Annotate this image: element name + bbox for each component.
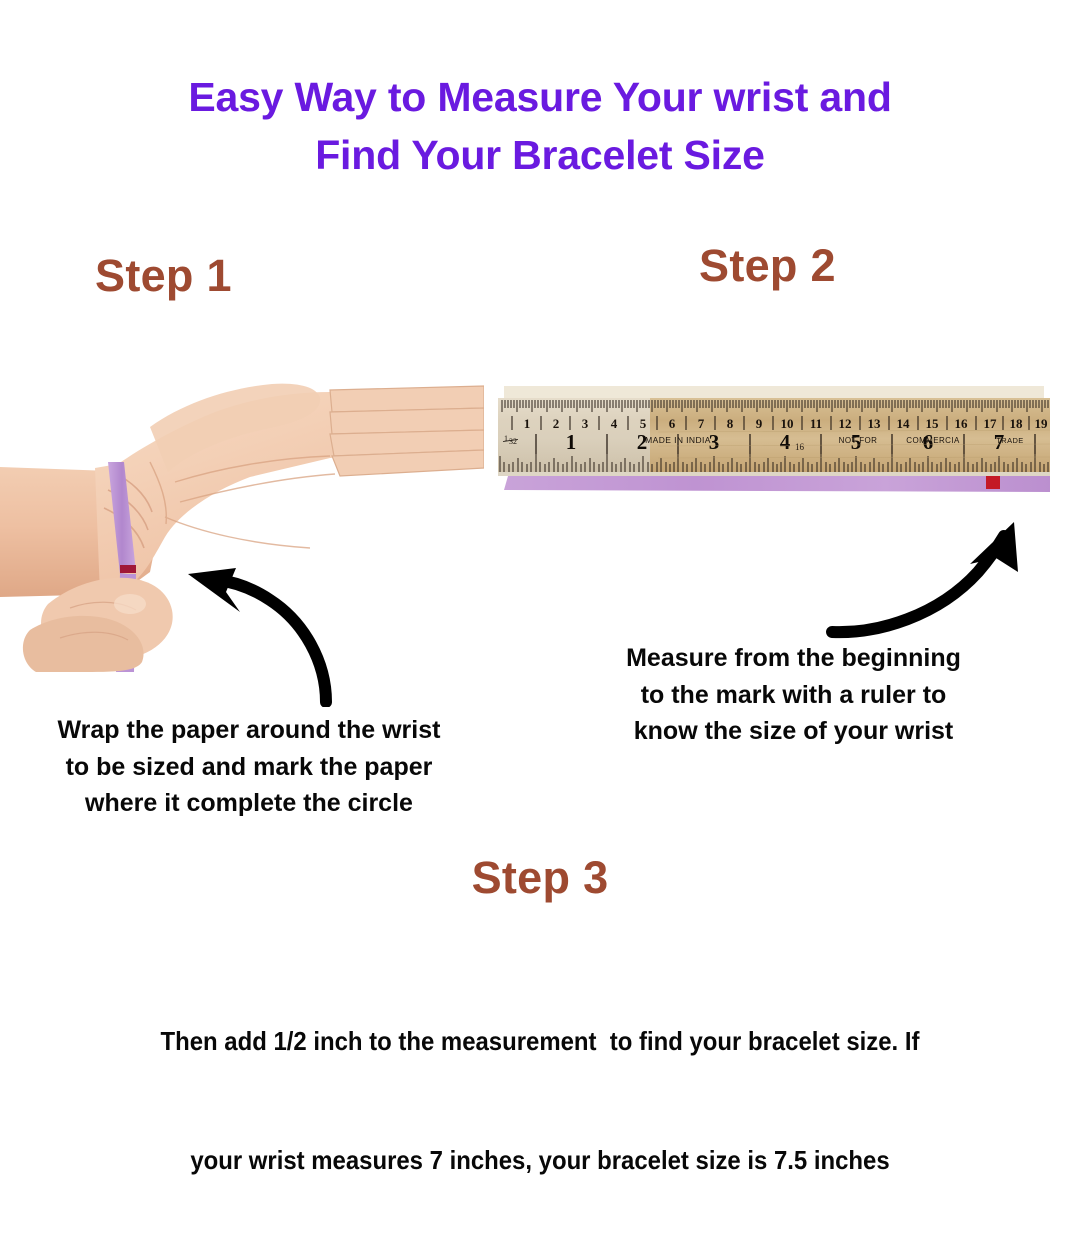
page-title-line-1: Easy Way to Measure Your wrist and [0,68,1080,126]
svg-text:17: 17 [984,416,998,431]
ruler-sixteenth-label: 16 [795,442,805,452]
svg-text:1: 1 [524,416,531,431]
step-1-caption-line-1: Wrap the paper around the wrist [8,712,490,749]
step-1-caption-line-2: to be sized and mark the paper [8,749,490,786]
page-title-line-2: Find Your Bracelet Size [0,126,1080,184]
svg-text:1: 1 [566,430,577,454]
svg-text:16: 16 [955,416,969,431]
step-3-caption: Then add 1/2 inch to the measurement to … [126,942,954,1260]
svg-text:6: 6 [923,430,934,454]
svg-text:5: 5 [851,430,862,454]
svg-text:12: 12 [839,416,852,431]
svg-text:9: 9 [756,416,763,431]
svg-text:32: 32 [509,437,517,446]
svg-text:18: 18 [1010,416,1024,431]
step-3-heading: Step 3 [0,852,1080,904]
svg-text:13: 13 [868,416,882,431]
curved-arrow-up-right-icon [818,508,1044,644]
svg-text:6: 6 [669,416,676,431]
svg-text:3: 3 [582,416,589,431]
step-1-caption-line-3: where it complete the circle [8,785,490,822]
svg-text:2: 2 [553,416,560,431]
step-1-heading: Step 1 [95,250,232,302]
svg-text:11: 11 [810,416,822,431]
svg-text:19: 19 [1035,416,1049,431]
page-title: Easy Way to Measure Your wrist and Find … [0,68,1080,184]
svg-text:8: 8 [727,416,734,431]
svg-text:7: 7 [994,430,1005,454]
svg-text:2: 2 [637,430,648,454]
svg-text:10: 10 [781,416,794,431]
svg-text:7: 7 [698,416,705,431]
svg-text:3: 3 [709,430,720,454]
step-3-caption-line-2: your wrist measures 7 inches, your brace… [126,1141,954,1181]
ruler-over-paper-strip-photo: 123 456 789 101112 131415 161718 19 MADE… [498,386,1050,496]
svg-text:14: 14 [897,416,911,431]
step-1-caption: Wrap the paper around the wrist to be si… [8,712,490,822]
paper-strip-red-mark [986,476,1000,489]
infographic-canvas: Easy Way to Measure Your wrist and Find … [0,0,1080,1080]
svg-text:4: 4 [611,416,618,431]
step-3-caption-line-1: Then add 1/2 inch to the measurement to … [126,1022,954,1062]
step-2-heading: Step 2 [699,240,836,292]
svg-text:4: 4 [780,430,791,454]
step-2-caption-line-2: to the mark with a ruler to [572,677,1015,714]
curved-arrow-left-icon [174,562,360,707]
svg-text:5: 5 [640,416,647,431]
step-2-caption: Measure from the beginning to the mark w… [572,640,1015,750]
step-2-caption-line-1: Measure from the beginning [572,640,1015,677]
svg-text:15: 15 [926,416,940,431]
step-2-caption-line-3: know the size of your wrist [572,713,1015,750]
